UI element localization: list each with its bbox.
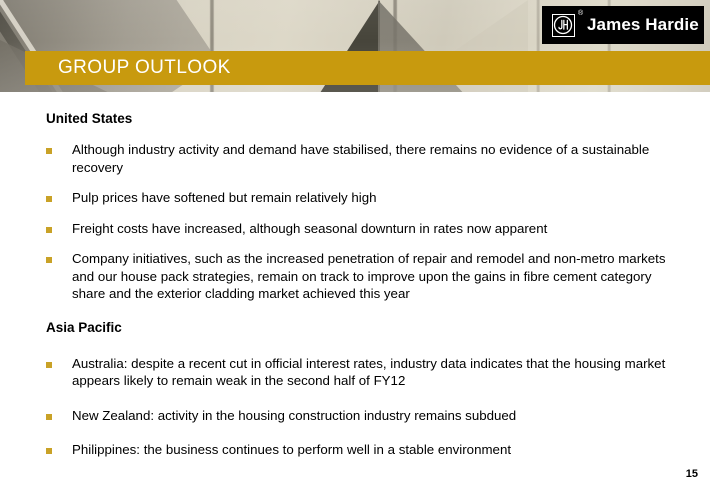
section-heading-asia-pacific: Asia Pacific (46, 320, 710, 335)
square-bullet-icon (46, 414, 52, 420)
bullet-text: Although industry activity and demand ha… (72, 141, 686, 176)
james-hardie-logo: ® James Hardie (542, 6, 704, 44)
bullet-text: Pulp prices have softened but remain rel… (72, 189, 377, 207)
bullet-list-united-states: Although industry activity and demand ha… (0, 141, 710, 303)
square-bullet-icon (46, 362, 52, 368)
slide-title: GROUP OUTLOOK (25, 57, 231, 79)
logo-wordmark: James Hardie (587, 15, 699, 35)
list-item: Company initiatives, such as the increas… (46, 250, 710, 303)
slide-body: United States Although industry activity… (0, 92, 710, 489)
slide-title-band: GROUP OUTLOOK (25, 51, 710, 85)
square-bullet-icon (46, 227, 52, 233)
bullet-text: Philippines: the business continues to p… (72, 441, 511, 459)
page-number: 15 (686, 468, 698, 480)
square-bullet-icon (46, 196, 52, 202)
bullet-text: New Zealand: activity in the housing con… (72, 407, 516, 425)
jh-monogram-icon (552, 14, 575, 37)
bullet-list-asia-pacific: Australia: despite a recent cut in offic… (0, 355, 710, 459)
list-item: New Zealand: activity in the housing con… (46, 407, 710, 425)
square-bullet-icon (46, 257, 52, 263)
square-bullet-icon (46, 448, 52, 454)
list-item: Pulp prices have softened but remain rel… (46, 189, 710, 207)
list-item: Philippines: the business continues to p… (46, 441, 710, 459)
list-item: Freight costs have increased, although s… (46, 220, 710, 238)
list-item: Australia: despite a recent cut in offic… (46, 355, 710, 390)
bullet-text: Australia: despite a recent cut in offic… (72, 355, 686, 390)
bullet-text: Company initiatives, such as the increas… (72, 250, 686, 303)
list-item: Although industry activity and demand ha… (46, 141, 710, 176)
section-heading-united-states: United States (46, 111, 710, 126)
square-bullet-icon (46, 148, 52, 154)
bullet-text: Freight costs have increased, although s… (72, 220, 547, 238)
registered-trademark-mark: ® (578, 10, 583, 17)
